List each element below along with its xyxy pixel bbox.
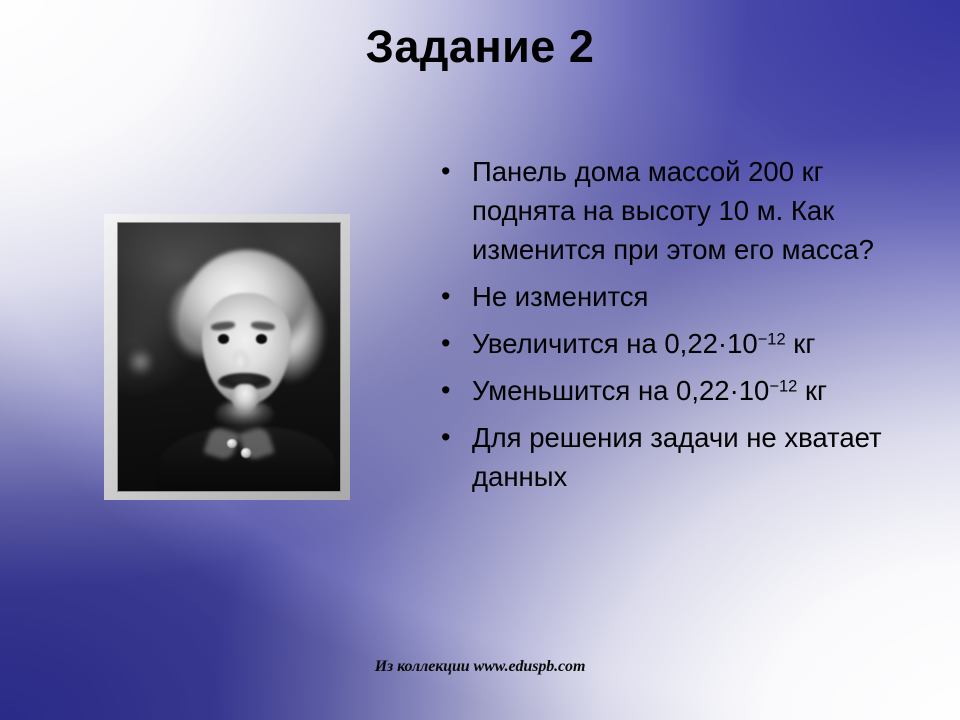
slide-title: Задание 2 bbox=[200, 22, 760, 72]
bullet-text-suffix: кг bbox=[797, 375, 827, 406]
bullet-text-prefix: Для решения задачи не хватает данных bbox=[472, 422, 882, 492]
bullet-point-icon: • bbox=[438, 371, 472, 410]
list-item: • Для решения задачи не хватает данных bbox=[438, 418, 922, 496]
bullet-text-superscript: −12 bbox=[769, 377, 797, 395]
einstein-tongue-photograph bbox=[118, 223, 340, 491]
bullet-text-answer-b: Увеличится на 0,22·10−12 кг bbox=[472, 324, 922, 363]
list-item: • Увеличится на 0,22·10−12 кг bbox=[438, 324, 922, 363]
bullet-text-prefix: Панель дома массой 200 кг поднята на выс… bbox=[472, 156, 874, 265]
bullet-text-suffix: кг bbox=[786, 328, 816, 359]
bullet-text-prefix: Уменьшится на 0,22·10 bbox=[472, 375, 769, 406]
bullet-text-superscript: −12 bbox=[758, 330, 786, 348]
bullet-text-answer-d: Для решения задачи не хватает данных bbox=[472, 418, 922, 496]
bullet-point-icon: • bbox=[438, 418, 472, 457]
list-item: • Не изменится bbox=[438, 277, 922, 316]
coat-button-lower bbox=[241, 448, 251, 458]
list-item: • Панель дома массой 200 кг поднята на в… bbox=[438, 152, 922, 269]
bullet-point-icon: • bbox=[438, 152, 472, 191]
list-item: • Уменьшится на 0,22·10−12 кг bbox=[438, 371, 922, 410]
photo-side-highlight bbox=[127, 346, 154, 378]
bullet-text-prefix: Не изменится bbox=[472, 281, 648, 312]
coat-button-upper bbox=[227, 439, 237, 449]
bullet-text-answer-c: Уменьшится на 0,22·10−12 кг bbox=[472, 371, 922, 410]
eye-right bbox=[256, 334, 268, 344]
bullet-text-question: Панель дома массой 200 кг поднята на выс… bbox=[472, 152, 922, 269]
bullet-text-answer-a: Не изменится bbox=[472, 277, 922, 316]
bullet-point-icon: • bbox=[438, 324, 472, 363]
bullet-point-icon: • bbox=[438, 277, 472, 316]
bullet-list: • Панель дома массой 200 кг поднята на в… bbox=[438, 152, 922, 504]
bullet-text-prefix: Увеличится на 0,22·10 bbox=[472, 328, 758, 359]
photo-frame bbox=[104, 214, 350, 500]
slide-footer-attribution: Из коллекции www.eduspb.com bbox=[0, 658, 960, 676]
presentation-slide: Задание 2 • Панель дома масс bbox=[0, 0, 960, 720]
